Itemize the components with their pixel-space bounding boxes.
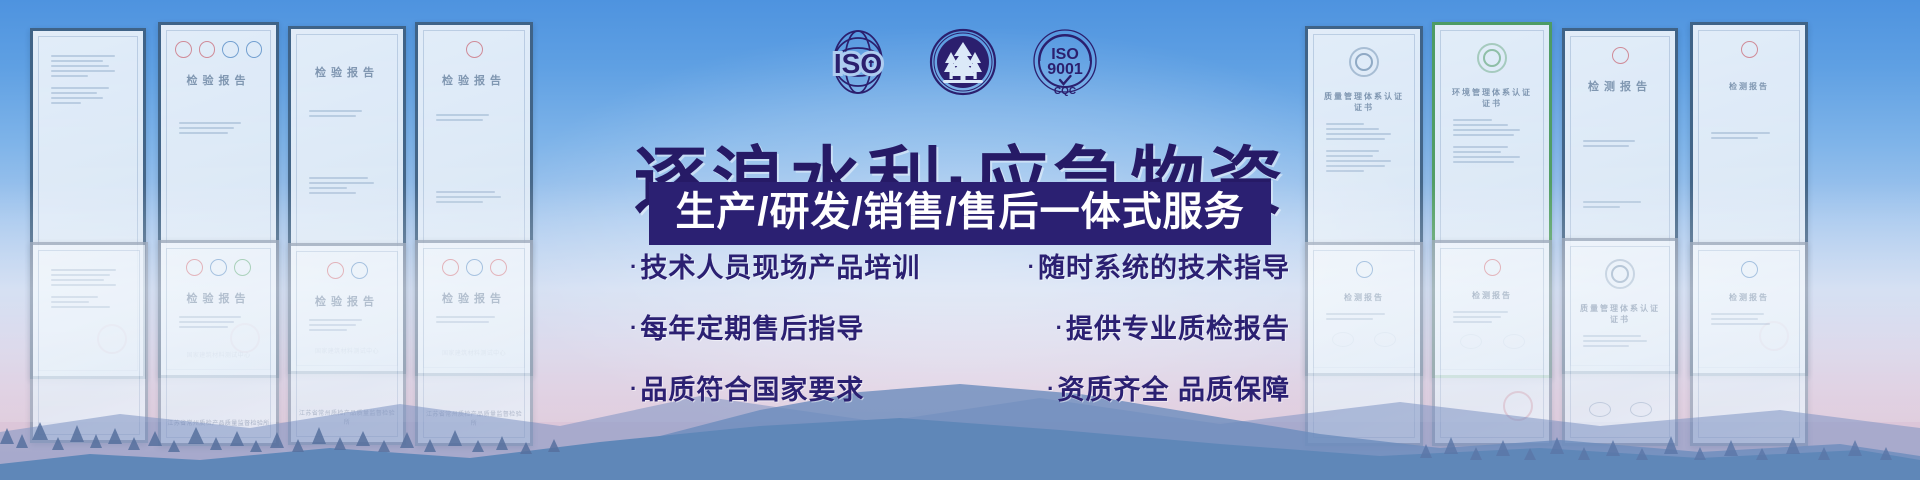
feature-item: ·提供专业质检报告 (1056, 307, 1290, 346)
forest-seal-icon (929, 28, 997, 101)
feature-item: ·品质符合国家要求 (630, 368, 864, 407)
feature-row: ·技术人员现场产品培训 ·随时系统的技术指导 (630, 246, 1290, 285)
feature-row: ·品质符合国家要求 ·资质齐全 品质保障 (630, 368, 1290, 407)
feature-list: ·技术人员现场产品培训 ·随时系统的技术指导 ·每年定期售后指导 ·提供专业质检… (0, 246, 1920, 407)
bullet-icon: · (630, 376, 638, 401)
feature-row: ·每年定期售后指导 ·提供专业质检报告 (630, 307, 1290, 346)
feature-item: ·技术人员现场产品培训 (630, 246, 920, 285)
svg-text:9001: 9001 (1047, 61, 1083, 78)
bullet-icon: · (630, 315, 638, 340)
feature-label: 随时系统的技术指导 (1038, 253, 1290, 283)
promo-banner: 检验报告 国家建筑材料测试中心 检验报告 国家建筑材料测试中心 检验报告 (0, 0, 1920, 480)
feature-label: 资质齐全 品质保障 (1057, 375, 1290, 405)
subtitle-text: 生产/研发/销售/售后一体式服务 (649, 182, 1270, 245)
banner-content: ISO (0, 0, 1920, 480)
bullet-icon: · (1028, 254, 1036, 279)
feature-label: 技术人员现场产品培训 (640, 253, 920, 283)
subtitle-bar: 生产/研发/销售/售后一体式服务 (0, 182, 1920, 245)
bullet-icon: · (1047, 376, 1055, 401)
bullet-icon: · (1056, 315, 1064, 340)
feature-label: 提供专业质检报告 (1066, 314, 1290, 344)
iso-globe-icon: ISO (821, 29, 895, 100)
feature-item: ·随时系统的技术指导 (1028, 246, 1290, 285)
feature-label: 每年定期售后指导 (640, 314, 864, 344)
iso-9001-cqc-icon: ISO 9001 CQC (1031, 28, 1099, 101)
bullet-icon: · (630, 254, 638, 279)
svg-text:CQC: CQC (1054, 86, 1076, 96)
feature-item: ·资质齐全 品质保障 (1047, 368, 1290, 407)
feature-label: 品质符合国家要求 (640, 375, 864, 405)
feature-item: ·每年定期售后指导 (630, 307, 864, 346)
certification-logo-row: ISO (0, 28, 1920, 101)
svg-text:ISO: ISO (834, 48, 882, 79)
